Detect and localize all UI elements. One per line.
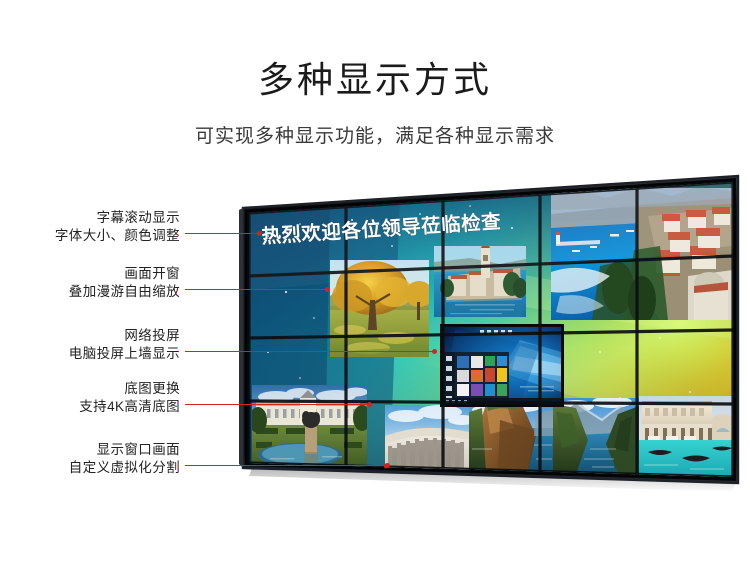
leader-dot-window-overlay [325,287,330,292]
callout-line2: 自定义虚拟化分割 [40,459,180,477]
leader-dot-background-swap [367,402,372,407]
callout-line1: 显示窗口画面 [40,441,180,459]
windows-desktop-window [441,325,563,406]
callout-subtitle-scroll: 字幕滚动显示 字体大小、颜色调整 [40,209,180,245]
leader-line-subtitle-scroll [185,233,262,234]
leader-line-window-overlay [185,289,330,290]
leader-dot-network-cast [432,349,437,354]
callout-line1: 字幕滚动显示 [40,209,180,227]
callout-line1: 底图更换 [40,380,180,398]
callout-line2: 叠加漫游自由缩放 [40,283,180,301]
leader-line-network-cast [185,351,437,352]
palace-fountain-window [249,385,371,468]
leader-dot-virtual-split [385,463,390,468]
callout-window-overlay: 画面开窗 叠加漫游自由缩放 [40,265,180,301]
callout-line1: 网络投屏 [40,327,180,345]
callout-line2: 字体大小、颜色调整 [40,227,180,245]
leader-line-virtual-split [185,465,390,466]
callout-background-swap: 底图更换 支持4K高清底图 [40,380,180,416]
callout-line2: 电脑投屏上墙显示 [40,345,180,363]
start-tiles [457,356,507,396]
wall-side-thickness [239,208,243,468]
venice-window [639,396,733,478]
callout-virtual-split: 显示窗口画面 自定义虚拟化分割 [40,441,180,477]
product-feature-page: 多种显示方式 可实现多种显示功能，满足各种显示需求 [0,0,750,571]
callout-network-cast: 网络投屏 电脑投屏上墙显示 [40,327,180,363]
wall-screen-content: 热烈欢迎各位领导莅临检查 [245,175,750,487]
callout-line1: 画面开窗 [40,265,180,283]
leader-dot-subtitle-scroll [257,231,262,236]
leader-line-background-swap [185,404,372,405]
callout-line2: 支持4K高清底图 [40,398,180,416]
colonnade-window [385,405,476,472]
fjord-river-window [553,396,639,474]
